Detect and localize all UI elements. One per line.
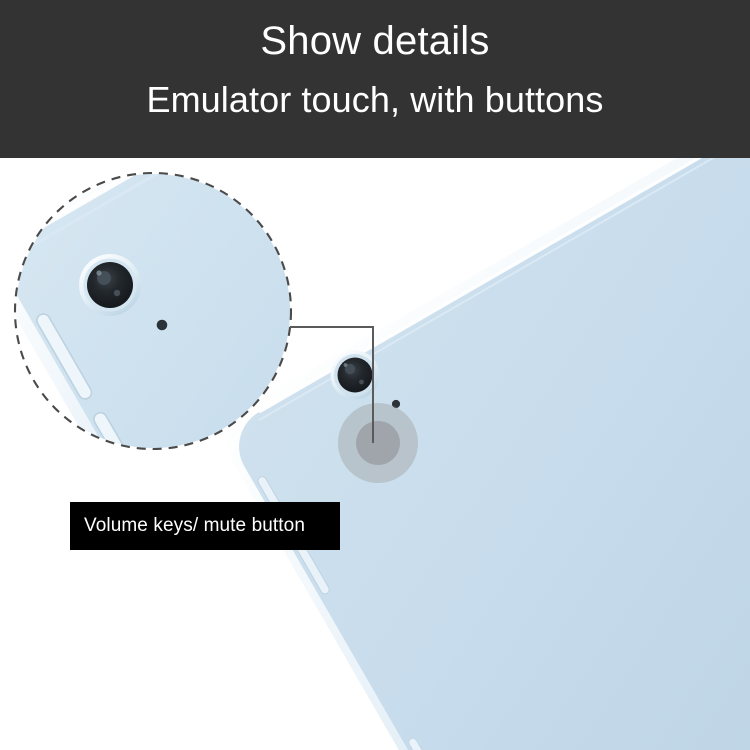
callout-label-volume-keys: Volume keys/ mute button xyxy=(70,502,340,550)
magnified-microphone-hole xyxy=(157,320,168,331)
page-title: Show details xyxy=(0,18,750,64)
touch-inner-dot xyxy=(356,421,400,465)
header-band: Show details Emulator touch, with button… xyxy=(0,0,750,158)
page-subtitle: Emulator touch, with buttons xyxy=(0,79,750,121)
product-photo xyxy=(0,158,750,750)
tablet-back-shell xyxy=(224,158,750,750)
photo-illustration xyxy=(0,158,750,750)
product-detail-image: Show details Emulator touch, with button… xyxy=(0,0,750,750)
tablet-device-main xyxy=(212,158,750,750)
magnified-camera-lens xyxy=(79,254,141,316)
emulator-touch-point[interactable] xyxy=(338,403,418,483)
